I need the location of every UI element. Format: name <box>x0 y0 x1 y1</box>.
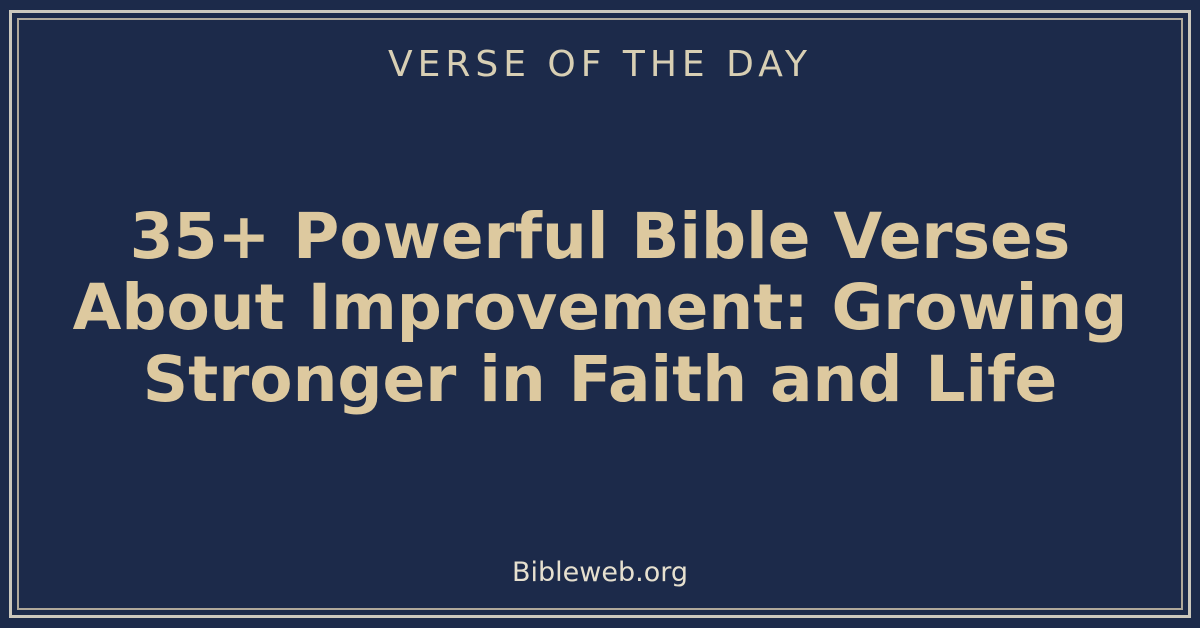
verse-of-the-day-card: VERSE OF THE DAY 35+ Powerful Bible Vers… <box>0 0 1200 628</box>
page-title: 35+ Powerful Bible Verses About Improvem… <box>70 201 1130 415</box>
card-content: VERSE OF THE DAY 35+ Powerful Bible Vers… <box>28 28 1172 600</box>
site-attribution: Bibleweb.org <box>512 558 688 588</box>
headline-container: 35+ Powerful Bible Verses About Improvem… <box>28 84 1172 559</box>
eyebrow-label: VERSE OF THE DAY <box>388 46 812 84</box>
